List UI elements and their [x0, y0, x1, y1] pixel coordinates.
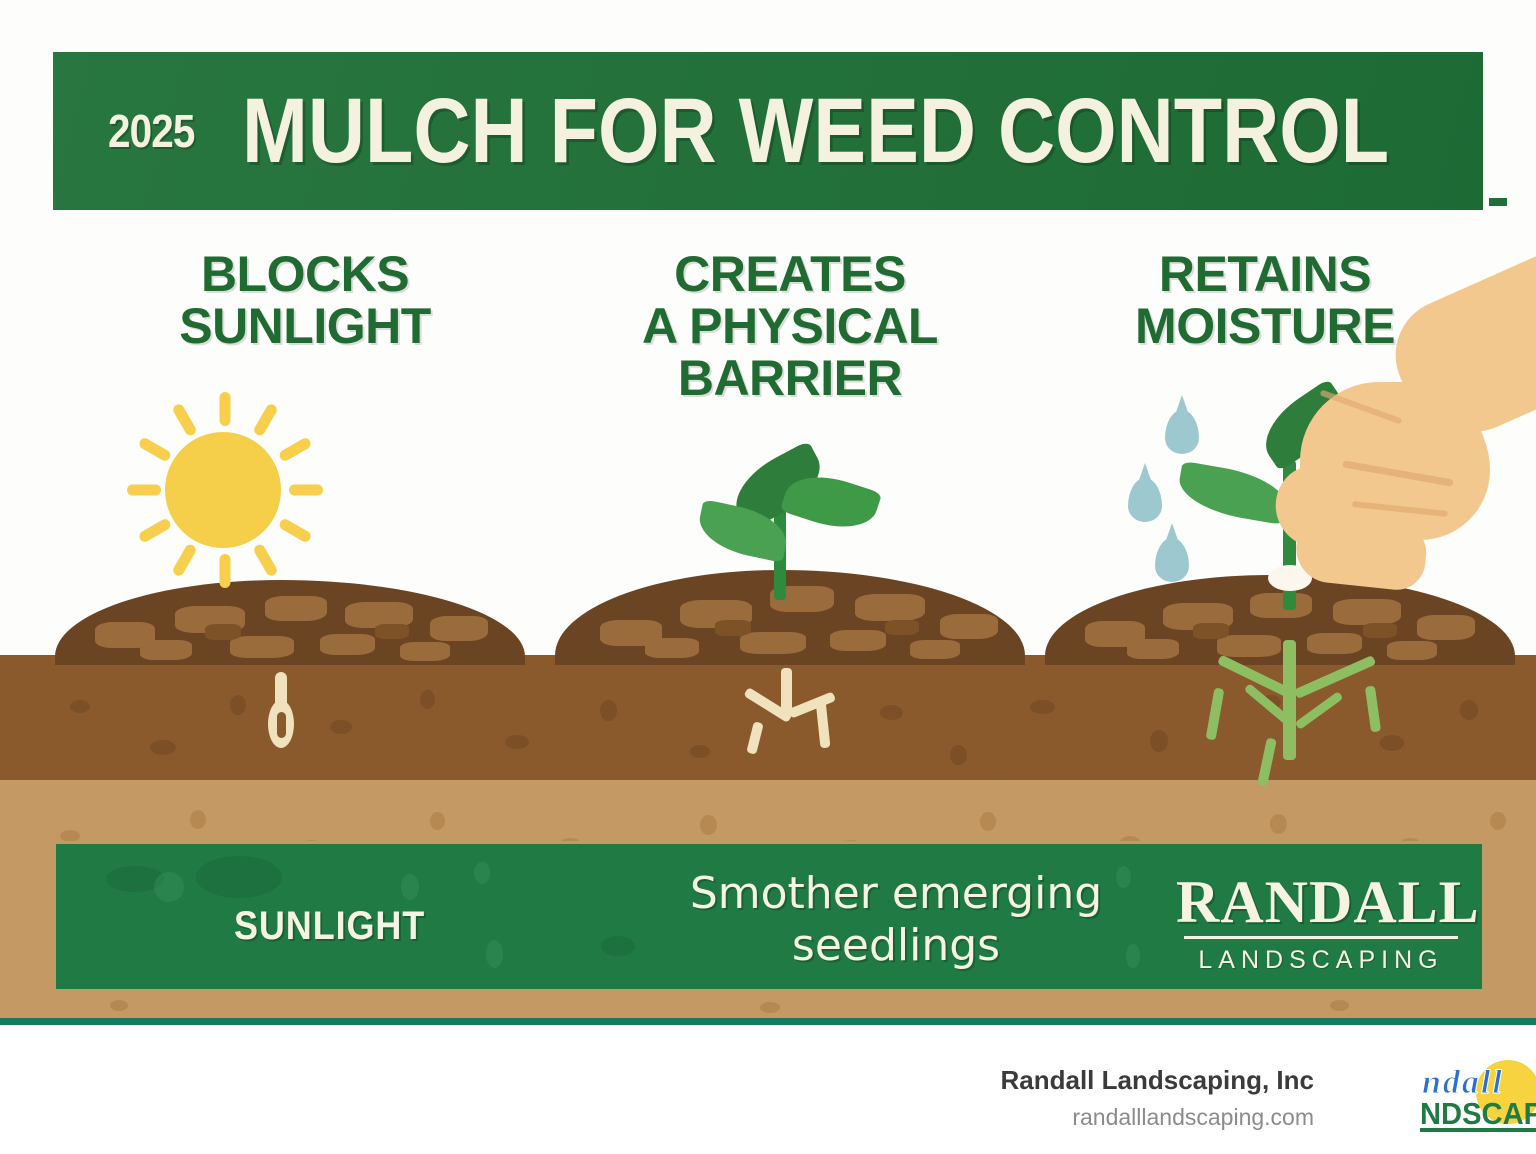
soil-speck [690, 745, 710, 758]
footer-text-block: Randall Landscaping, Inc randalllandscap… [1001, 1065, 1315, 1131]
soil-speck [1380, 735, 1404, 751]
logo-tagline: LANDSCAPING [1176, 946, 1466, 975]
soil-speck [190, 810, 206, 829]
company-website[interactable]: randalllandscaping.com [1001, 1104, 1315, 1131]
heading-line: SUNLIGHT [95, 300, 515, 352]
heading-line: BARRIER [560, 352, 1020, 404]
soil-speck [1460, 700, 1478, 720]
banner-corner-tick [1489, 198, 1507, 206]
company-name: Randall Landscaping, Inc [1001, 1065, 1315, 1096]
badge-underline-bar [1420, 1128, 1536, 1132]
infographic-canvas: 2025 MULCH FOR WEED CONTROL BLOCKS SUNLI… [0, 0, 1536, 1154]
water-drop-icon [1165, 410, 1199, 454]
sun-icon [110, 390, 340, 590]
soil-speck [1330, 1000, 1349, 1011]
year-label: 2025 [108, 104, 195, 158]
soil-speck [1150, 730, 1168, 752]
footer-logo-badge: ndall NDSCAP [1418, 1058, 1536, 1132]
soil-speck [110, 1000, 128, 1011]
randall-landscaping-logo: RANDALL LANDSCAPING [1176, 872, 1466, 975]
bottom-banner-center-text: Smother emerging seedlings [656, 868, 1136, 972]
soil-speck [70, 700, 90, 713]
logo-divider [1184, 936, 1458, 939]
footer: Randall Landscaping, Inc randalllandscap… [0, 1025, 1536, 1154]
soil-speck [1270, 814, 1287, 834]
bottom-accent-rule [0, 1018, 1536, 1025]
soil-speck [980, 812, 996, 831]
bottom-banner-left-label: SUNLIGHT [234, 904, 425, 949]
heading-line: BLOCKS [95, 248, 515, 300]
mulch-mound-1 [55, 580, 525, 665]
bottom-banner: SUNLIGHT Smother emerging seedlings RAND… [53, 841, 1485, 992]
soil-speck [1490, 812, 1506, 830]
heading-line: CREATES [560, 248, 1020, 300]
soil-speck [880, 705, 903, 720]
soil-speck [420, 690, 435, 709]
page-title: MULCH FOR WEED CONTROL [242, 85, 1389, 177]
heading-line: A PHYSICAL [560, 300, 1020, 352]
badge-block-text: NDSCAP [1420, 1096, 1536, 1132]
center-text-line: seedlings [656, 920, 1136, 972]
soil-speck [150, 740, 176, 755]
center-text-line: Smother emerging [656, 868, 1136, 920]
soil-speck [505, 735, 529, 749]
mulch-mound-2 [555, 570, 1025, 665]
header-banner: 2025 MULCH FOR WEED CONTROL [53, 52, 1483, 210]
soil-speck [600, 700, 617, 721]
soil-speck [230, 695, 246, 715]
soil-speck [430, 812, 445, 830]
water-drop-icon [1155, 538, 1189, 582]
column-heading-physical-barrier: CREATES A PHYSICAL BARRIER [560, 248, 1020, 404]
soil-speck [700, 815, 717, 835]
soil-speck [1030, 700, 1055, 714]
logo-name: RANDALL [1176, 872, 1466, 932]
soil-speck [950, 745, 967, 765]
soil-speck [330, 720, 352, 734]
soil-speck [760, 1002, 780, 1013]
heading-line: RETAINS [1045, 248, 1485, 300]
column-heading-blocks-sunlight: BLOCKS SUNLIGHT [95, 248, 515, 352]
water-drop-icon [1128, 478, 1162, 522]
